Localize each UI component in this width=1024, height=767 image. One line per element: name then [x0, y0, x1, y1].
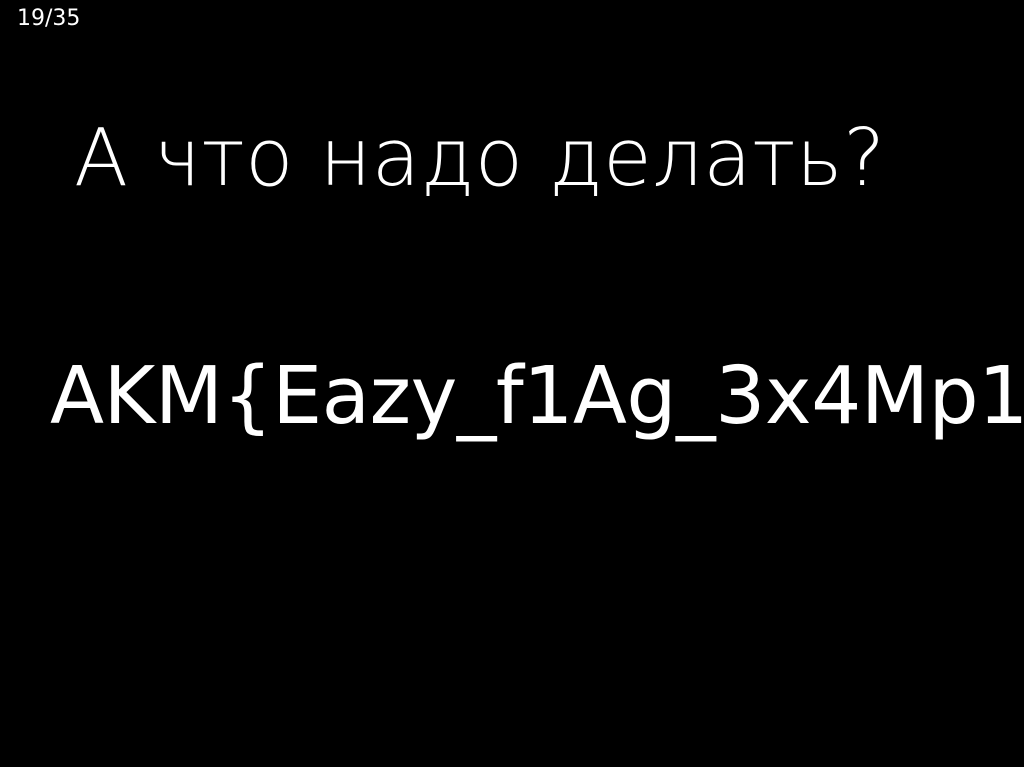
presentation-slide: 19/35 А что надо делать? AKM{Eazy_f1Ag_3…	[0, 0, 1024, 767]
flag-value: AKM{Eazy_f1Ag_3x4Mp1e}	[50, 348, 1024, 444]
page-counter: 19/35	[17, 6, 80, 32]
page-title: А что надо делать?	[74, 110, 886, 206]
